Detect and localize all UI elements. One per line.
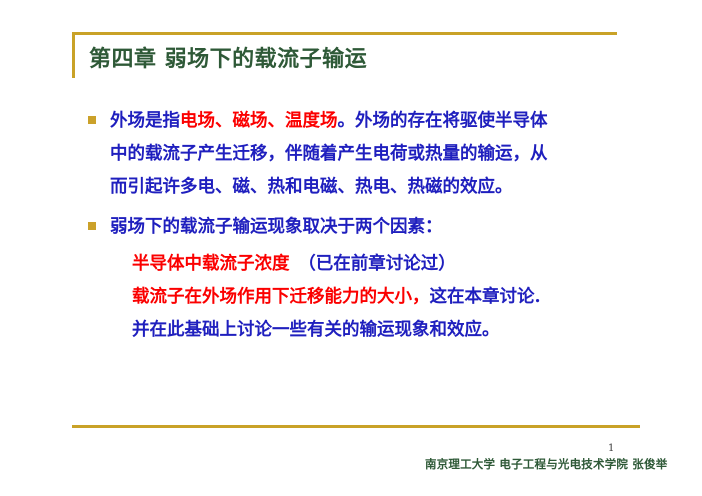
text-run: 。外场的存在将驱使半导体 xyxy=(338,111,548,131)
factor-line-1: 半导体中载流子浓度 （已在前章讨论过） xyxy=(132,248,658,281)
square-bullet-icon xyxy=(88,116,96,124)
text-run-highlight: 半导体中载流子浓度 xyxy=(132,254,290,274)
paragraph-line: 弱场下的载流子输运现象取决于两个因素： xyxy=(110,211,658,244)
square-bullet-icon xyxy=(88,222,96,230)
text-run: （已在前章讨论过） xyxy=(290,254,456,274)
page-number: 1 xyxy=(608,443,614,454)
text-run: 中的载流子产生迁移，伴随着产生电荷或热量的输运，从 xyxy=(110,144,548,164)
bullet-item-2: 弱场下的载流子输运现象取决于两个因素： 半导体中载流子浓度 （已在前章讨论过） … xyxy=(88,211,658,347)
paragraph-line: 外场是指电场、磁场、温度场。外场的存在将驱使半导体 xyxy=(110,105,658,138)
page-title: 第四章 弱场下的载流子输运 xyxy=(89,41,367,73)
text-run: 外场是指 xyxy=(110,111,180,131)
factor-line-3: 并在此基础上讨论一些有关的输运现象和效应。 xyxy=(132,314,658,347)
bullet-item-1: 外场是指电场、磁场、温度场。外场的存在将驱使半导体 中的载流子产生迁移，伴随着产… xyxy=(88,105,658,204)
paragraph-line: 而引起许多电、磁、热和电磁、热电、热磁的效应。 xyxy=(110,171,658,204)
text-run: 而引起许多电、磁、热和电磁、热电、热磁的效应。 xyxy=(110,177,513,197)
bullet-item-1-body: 外场是指电场、磁场、温度场。外场的存在将驱使半导体 中的载流子产生迁移，伴随着产… xyxy=(110,105,658,204)
footer-divider xyxy=(72,425,640,428)
slide: 第四章 弱场下的载流子输运 外场是指电场、磁场、温度场。外场的存在将驱使半导体 … xyxy=(0,0,702,496)
text-run-highlight: 载流子在外场作用下迁移能力的大小， xyxy=(132,287,430,307)
text-run: 并在此基础上讨论一些有关的输运现象和效应。 xyxy=(132,320,500,340)
spacer xyxy=(88,204,658,211)
paragraph-line: 中的载流子产生迁移，伴随着产生电荷或热量的输运，从 xyxy=(110,138,658,171)
text-run: 这在本章讨论. xyxy=(430,287,541,307)
factor-line-2: 载流子在外场作用下迁移能力的大小，这在本章讨论. xyxy=(132,281,658,314)
bullet-item-2-body: 弱场下的载流子输运现象取决于两个因素： 半导体中载流子浓度 （已在前章讨论过） … xyxy=(110,211,658,347)
title-block: 第四章 弱场下的载流子输运 xyxy=(72,32,617,78)
factor-list: 半导体中载流子浓度 （已在前章讨论过） 载流子在外场作用下迁移能力的大小，这在本… xyxy=(132,248,658,347)
slide-body: 外场是指电场、磁场、温度场。外场的存在将驱使半导体 中的载流子产生迁移，伴随着产… xyxy=(88,105,658,347)
footer-credit: 南京理工大学 电子工程与光电技术学院 张俊举 xyxy=(425,456,667,472)
text-run-highlight: 电场、磁场、温度场 xyxy=(180,111,338,131)
text-run: 弱场下的载流子输运现象取决于两个因素： xyxy=(110,217,443,237)
